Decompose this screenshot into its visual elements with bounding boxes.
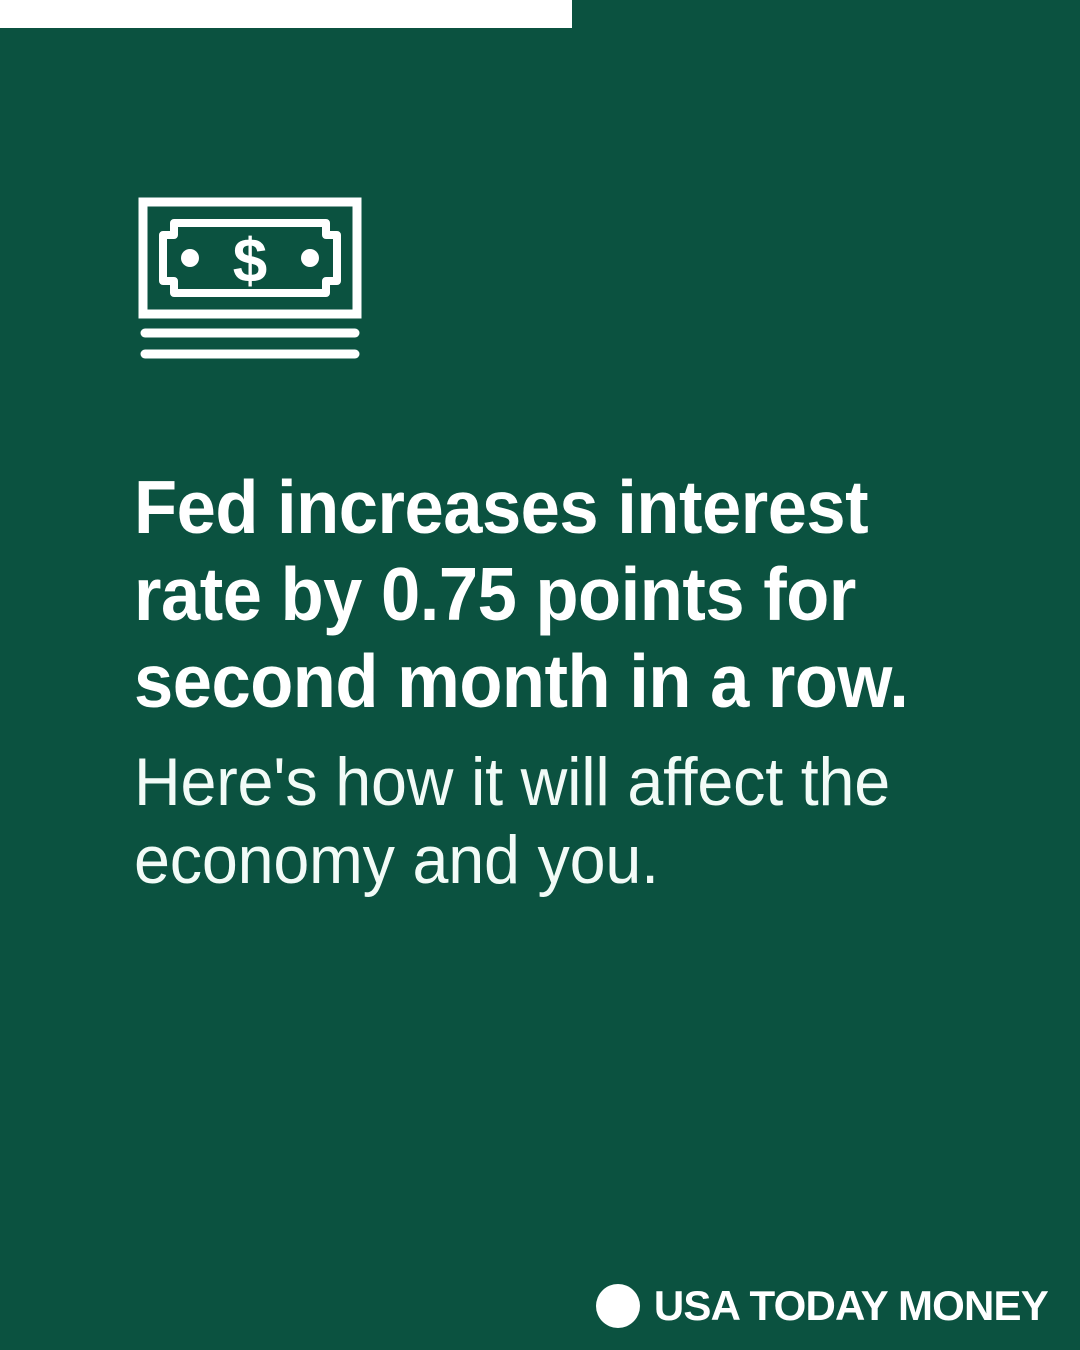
svg-text:$: $ — [233, 227, 267, 296]
circle-logo-mark-icon — [596, 1284, 640, 1328]
headline: Fed increases interest rate by 0.75 poin… — [134, 464, 961, 725]
brand-lockup: USA TODAY MONEY — [596, 1284, 1048, 1328]
brand-name: USA TODAY MONEY — [654, 1284, 1048, 1328]
subheadline-line-1: Here's how it will affect the — [134, 743, 970, 821]
top-white-strip — [0, 0, 572, 28]
subheadline-line-2: economy and you. — [134, 821, 970, 899]
headline-line-2: rate by 0.75 points for — [134, 551, 961, 638]
headline-line-3: second month in a row. — [134, 638, 961, 725]
headline-line-1: Fed increases interest — [134, 464, 961, 551]
subheadline: Here's how it will affect the economy an… — [134, 743, 970, 899]
social-card: $ Fed increases interest rate by 0.75 po… — [0, 0, 1080, 1350]
dollar-bill-icon: $ — [138, 197, 362, 362]
